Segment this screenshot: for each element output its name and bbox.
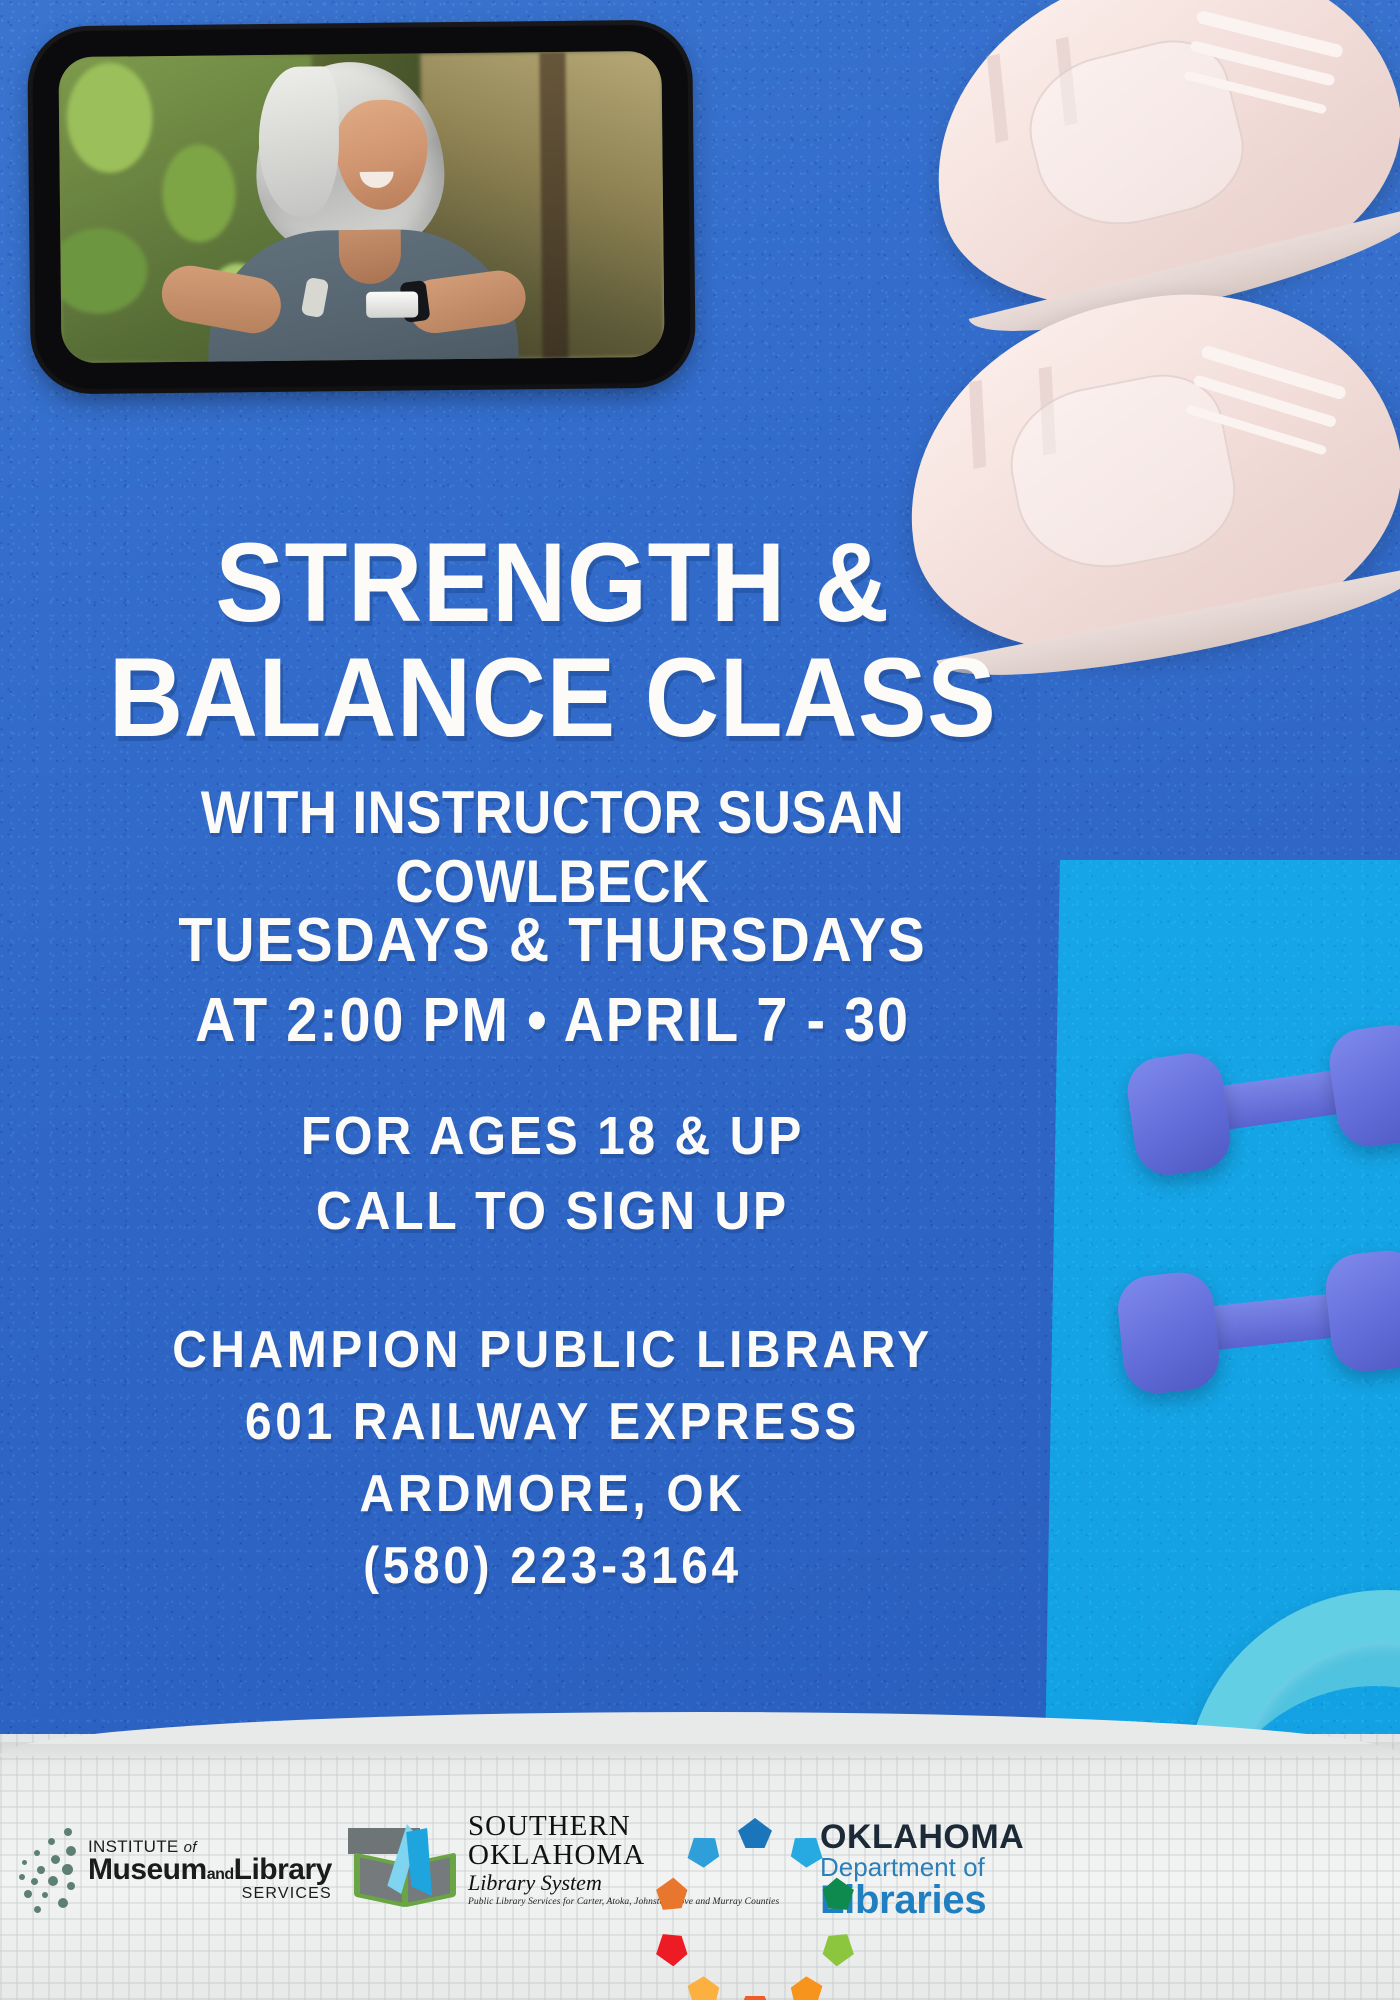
odl-department-of: Department of <box>820 1854 1024 1880</box>
imls-logo: INSTITUTE of MuseumandLibrary SERVICES <box>18 1822 332 1918</box>
footer-logo-row: INSTITUTE of MuseumandLibrary SERVICES <box>0 1804 1400 1954</box>
dumbbell-head-right <box>1323 1247 1400 1374</box>
schedule-time-dates: AT 2:00 PM • APRIL 7 - 30 <box>55 985 1050 1056</box>
venue-name: CHAMPION PUBLIC LIBRARY <box>44 1320 1061 1380</box>
photo-handheld-dumbbell <box>366 291 418 318</box>
odl-wordmark: OKLAHOMA Department of Libraries <box>820 1820 1024 1920</box>
oklahoma-department-of-libraries-logo: OKLAHOMA Department of Libraries <box>700 1818 1024 1922</box>
imls-services: SERVICES <box>88 1886 332 1902</box>
event-flyer: STRENGTH & BALANCE CLASS WITH INSTRUCTOR… <box>0 0 1400 2000</box>
signup-instruction: CALL TO SIGN UP <box>44 1180 1061 1242</box>
phone-mockup <box>32 25 691 390</box>
age-requirement: FOR AGES 18 & UP <box>44 1105 1061 1167</box>
dumbbell-head-left <box>1115 1269 1223 1396</box>
venue-city-state: ARDMORE, OK <box>44 1464 1061 1524</box>
schedule-days: TUESDAYS & THURSDAYS <box>55 905 1050 976</box>
page-title-line2: BALANCE CLASS <box>44 645 1061 751</box>
photo-tree-trunk <box>539 52 568 358</box>
sneaker-laces <box>1195 10 1344 59</box>
imls-wordmark: INSTITUTE of MuseumandLibrary SERVICES <box>88 1838 332 1902</box>
venue-phone: (580) 223-3164 <box>44 1536 1061 1596</box>
instructor-subtitle: WITH INSTRUCTOR SUSAN COWLBECK <box>66 778 1038 916</box>
sneaker-laces <box>1200 344 1347 400</box>
imls-museum: Museum <box>88 1853 207 1886</box>
oklahoma-panhandle <box>348 1828 394 1841</box>
odl-oklahoma: OKLAHOMA <box>820 1820 1024 1854</box>
pinwheel-starburst-icon <box>700 1818 810 1922</box>
open-book-oklahoma-icon <box>348 1812 460 1908</box>
photo-woman-hair-front <box>258 66 340 217</box>
imls-dot-pattern-icon <box>18 1822 80 1918</box>
venue-street: 601 RAILWAY EXPRESS <box>44 1392 1061 1452</box>
imls-library: Library <box>234 1853 332 1886</box>
dumbbell-head-left <box>1123 1049 1234 1179</box>
phone-screen-photo <box>58 51 664 363</box>
page-title-line1: STRENGTH & <box>44 530 1061 636</box>
imls-and: and <box>207 1866 234 1883</box>
towel-fold-shadow <box>0 1744 1400 1764</box>
dumbbell-head-right <box>1325 1021 1400 1151</box>
odl-libraries: Libraries <box>820 1880 1024 1920</box>
